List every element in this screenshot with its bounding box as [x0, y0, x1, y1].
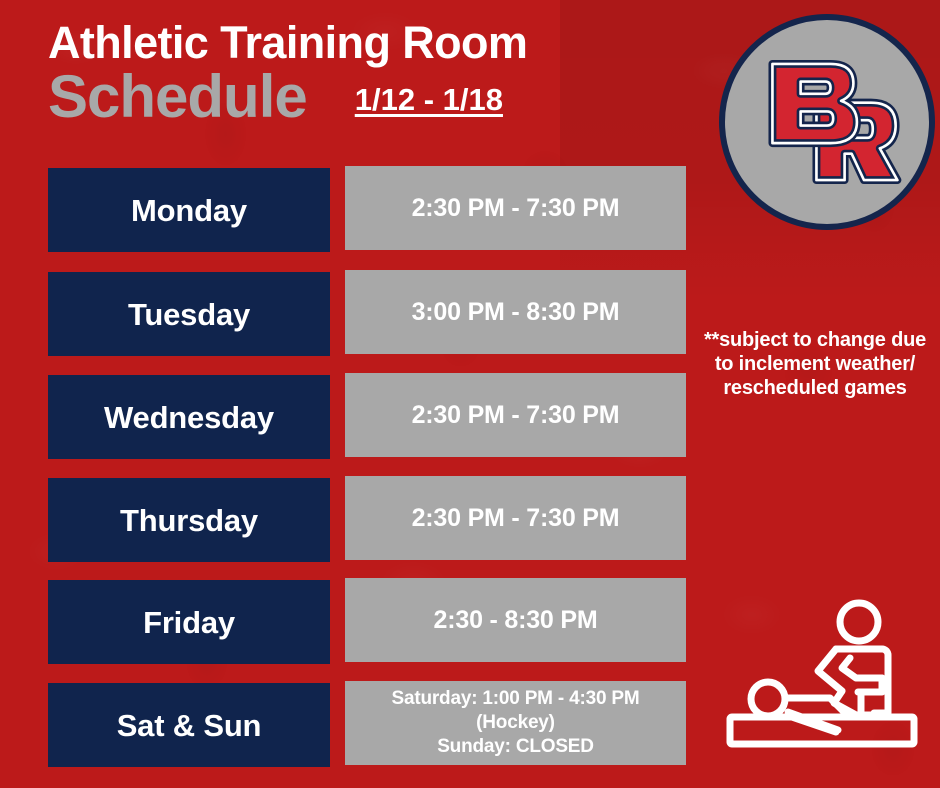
hours-text: Saturday: 1:00 PM - 4:30 PM (Hockey) Sun… — [391, 687, 639, 760]
poster-header: Athletic Training Room Schedule 1/12 - 1… — [48, 20, 668, 127]
date-range: 1/12 - 1/18 — [355, 82, 503, 127]
day-label-cell: Monday — [48, 168, 330, 252]
schedule-poster: Athletic Training Room Schedule 1/12 - 1… — [0, 0, 940, 788]
day-label: Sat & Sun — [117, 710, 262, 741]
athletic-trainer-treating-patient-icon — [722, 586, 922, 766]
day-label-cell: Friday — [48, 580, 330, 664]
day-label-cell: Thursday — [48, 478, 330, 562]
hours-cell: Saturday: 1:00 PM - 4:30 PM (Hockey) Sun… — [345, 681, 686, 765]
page-title: Athletic Training Room — [48, 20, 668, 65]
day-label: Wednesday — [104, 402, 274, 433]
hours-text: 2:30 PM - 7:30 PM — [412, 193, 620, 223]
hours-cell: 3:00 PM - 8:30 PM — [345, 270, 686, 354]
subtitle-row: Schedule 1/12 - 1/18 — [48, 67, 668, 127]
day-label-cell: Wednesday — [48, 375, 330, 459]
hours-text: 3:00 PM - 8:30 PM — [412, 297, 620, 327]
day-label: Tuesday — [128, 299, 250, 330]
day-label-cell: Sat & Sun — [48, 683, 330, 767]
hours-text: 2:30 - 8:30 PM — [434, 605, 598, 635]
day-label: Monday — [131, 195, 247, 226]
hours-cell: 2:30 - 8:30 PM — [345, 578, 686, 662]
hours-cell: 2:30 PM - 7:30 PM — [345, 476, 686, 560]
hours-cell: 2:30 PM - 7:30 PM — [345, 166, 686, 250]
logo-letter-B — [772, 64, 856, 143]
hours-cell: 2:30 PM - 7:30 PM — [345, 373, 686, 457]
br-team-logo — [719, 14, 935, 230]
page-subtitle: Schedule — [48, 67, 307, 127]
hours-text: 2:30 PM - 7:30 PM — [412, 400, 620, 430]
hours-text: 2:30 PM - 7:30 PM — [412, 503, 620, 533]
day-label: Friday — [143, 607, 235, 638]
day-label: Thursday — [120, 505, 258, 536]
day-label-cell: Tuesday — [48, 272, 330, 356]
disclaimer-note: **subject to change due to inclement wea… — [694, 328, 936, 400]
